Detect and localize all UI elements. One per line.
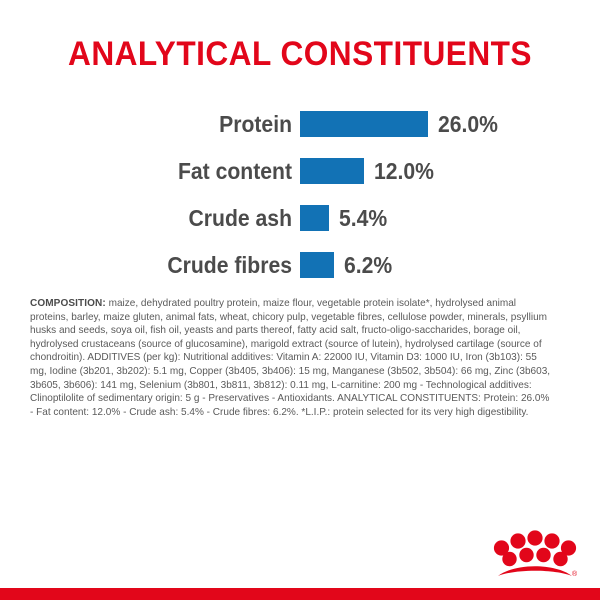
royal-canin-crown-icon: ® — [493, 528, 577, 580]
bar-fill-crude-ash — [300, 205, 329, 231]
bar-fill-fat-content — [300, 158, 364, 184]
chart-row-fat-content: Fat content 12.0% — [0, 147, 600, 194]
bar-label-fat-content: Fat content — [23, 158, 292, 184]
chart-row-crude-fibres: Crude fibres 6.2% — [0, 241, 600, 288]
bar-value-crude-fibres: 6.2% — [344, 252, 392, 278]
svg-text:®: ® — [572, 570, 577, 578]
chart-row-crude-ash: Crude ash 5.4% — [0, 194, 600, 241]
bar-value-fat-content: 12.0% — [374, 158, 434, 184]
analytical-constituents-panel: ANALYTICAL CONSTITUENTS Protein 26.0% Fa… — [0, 0, 600, 600]
composition-paragraph: COMPOSITION: maize, dehydrated poultry p… — [30, 297, 552, 419]
bar-track-fat-content: 12.0% — [300, 158, 439, 184]
bottom-brand-bar — [0, 588, 600, 600]
bar-fill-protein — [300, 111, 428, 137]
bar-label-crude-fibres: Crude fibres — [23, 252, 292, 278]
composition-lead-label: COMPOSITION: — [30, 298, 106, 309]
bar-track-protein: 26.0% — [300, 111, 503, 137]
bar-track-crude-fibres: 6.2% — [300, 252, 396, 278]
bar-label-protein: Protein — [23, 111, 292, 137]
composition-body-text: maize, dehydrated poultry protein, maize… — [30, 298, 550, 418]
bar-label-crude-ash: Crude ash — [23, 205, 292, 231]
page-title: ANALYTICAL CONSTITUENTS — [21, 34, 579, 74]
bar-track-crude-ash: 5.4% — [300, 205, 391, 231]
bar-value-crude-ash: 5.4% — [339, 205, 387, 231]
chart-row-protein: Protein 26.0% — [0, 100, 600, 147]
analytical-constituents-chart: Protein 26.0% Fat content 12.0% Crude as… — [0, 100, 600, 288]
bar-fill-crude-fibres — [300, 252, 334, 278]
bar-value-protein: 26.0% — [438, 111, 498, 137]
